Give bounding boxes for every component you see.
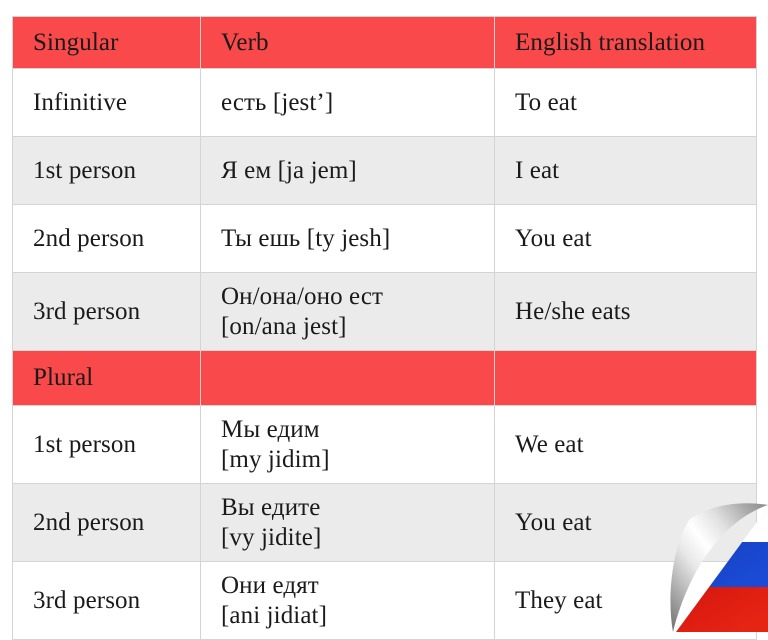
cell-verb: Вы едите [vy jidite] bbox=[201, 484, 495, 562]
verb-transliteration: [my jidim] bbox=[221, 445, 484, 475]
person-label: 3rd person bbox=[33, 586, 190, 616]
cell-verb: Мы едим [my jidim] bbox=[201, 406, 495, 484]
cell-verb: Я ем [ja jem] bbox=[201, 137, 495, 205]
person-label: 3rd person bbox=[33, 297, 190, 327]
table-row: 2nd person Ты ешь [ty jesh] You eat bbox=[13, 205, 757, 273]
cell-person: Infinitive bbox=[13, 69, 201, 137]
table-row: 3rd person Они едят [ani jidiat] They ea… bbox=[13, 562, 757, 640]
person-label: 2nd person bbox=[33, 508, 190, 538]
section-label-plural: Plural bbox=[33, 363, 190, 393]
english-label: You eat bbox=[515, 224, 746, 254]
english-label: You eat bbox=[515, 508, 746, 538]
section-cell-empty-verb bbox=[201, 351, 495, 406]
table-row: 3rd person Он/она/оно ест [on/ana jest] … bbox=[13, 273, 757, 351]
cell-person: 3rd person bbox=[13, 273, 201, 351]
verb-line: Я ем [ja jem] bbox=[221, 156, 484, 186]
cell-english: To eat bbox=[495, 69, 757, 137]
verb-transliteration: [on/ana jest] bbox=[221, 312, 484, 342]
verb-line: Вы едите bbox=[221, 493, 484, 523]
header-cell-singular: Singular bbox=[13, 17, 201, 69]
verb-line: есть [jest’] bbox=[221, 88, 484, 118]
verb-line: Мы едим bbox=[221, 415, 484, 445]
section-header-row-plural: Plural bbox=[13, 351, 757, 406]
cell-person: 2nd person bbox=[13, 205, 201, 273]
person-label: 1st person bbox=[33, 156, 190, 186]
table-body: Singular Verb English translation Infini… bbox=[13, 17, 757, 640]
cell-english: They eat bbox=[495, 562, 757, 640]
person-label: 2nd person bbox=[33, 224, 190, 254]
table-row: 1st person Я ем [ja jem] I eat bbox=[13, 137, 757, 205]
header-cell-english-translation: English translation bbox=[495, 17, 757, 69]
cell-verb: Они едят [ani jidiat] bbox=[201, 562, 495, 640]
english-label: We eat bbox=[515, 430, 746, 460]
table-header-row: Singular Verb English translation bbox=[13, 17, 757, 69]
cell-english: We eat bbox=[495, 406, 757, 484]
table-row: 2nd person Вы едите [vy jidite] You eat bbox=[13, 484, 757, 562]
cell-person: 2nd person bbox=[13, 484, 201, 562]
table-row: Infinitive есть [jest’] To eat bbox=[13, 69, 757, 137]
cell-person: 3rd person bbox=[13, 562, 201, 640]
section-cell-plural: Plural bbox=[13, 351, 201, 406]
cell-verb: есть [jest’] bbox=[201, 69, 495, 137]
verb-line: Ты ешь [ty jesh] bbox=[221, 224, 484, 254]
header-cell-verb: Verb bbox=[201, 17, 495, 69]
verb-transliteration: [vy jidite] bbox=[221, 523, 484, 553]
english-label: To eat bbox=[515, 88, 746, 118]
header-label-singular: Singular bbox=[33, 28, 190, 58]
cell-english: I eat bbox=[495, 137, 757, 205]
english-label: They eat bbox=[515, 586, 746, 616]
header-label-english-translation: English translation bbox=[515, 28, 746, 58]
cell-english: You eat bbox=[495, 205, 757, 273]
cell-person: 1st person bbox=[13, 406, 201, 484]
cell-person: 1st person bbox=[13, 137, 201, 205]
table-row: 1st person Мы едим [my jidim] We eat bbox=[13, 406, 757, 484]
person-label: Infinitive bbox=[33, 88, 190, 118]
cell-verb: Ты ешь [ty jesh] bbox=[201, 205, 495, 273]
cell-english: You eat bbox=[495, 484, 757, 562]
verb-line: Они едят bbox=[221, 571, 484, 601]
section-cell-empty-english bbox=[495, 351, 757, 406]
cell-verb: Он/она/оно ест [on/ana jest] bbox=[201, 273, 495, 351]
cell-english: He/she eats bbox=[495, 273, 757, 351]
header-label-verb: Verb bbox=[221, 28, 484, 58]
english-label: I eat bbox=[515, 156, 746, 186]
verb-conjugation-table: Singular Verb English translation Infini… bbox=[12, 16, 757, 640]
verb-transliteration: [ani jidiat] bbox=[221, 601, 484, 631]
verb-line: Он/она/оно ест bbox=[221, 282, 484, 312]
person-label: 1st person bbox=[33, 430, 190, 460]
english-label: He/she eats bbox=[515, 297, 746, 327]
